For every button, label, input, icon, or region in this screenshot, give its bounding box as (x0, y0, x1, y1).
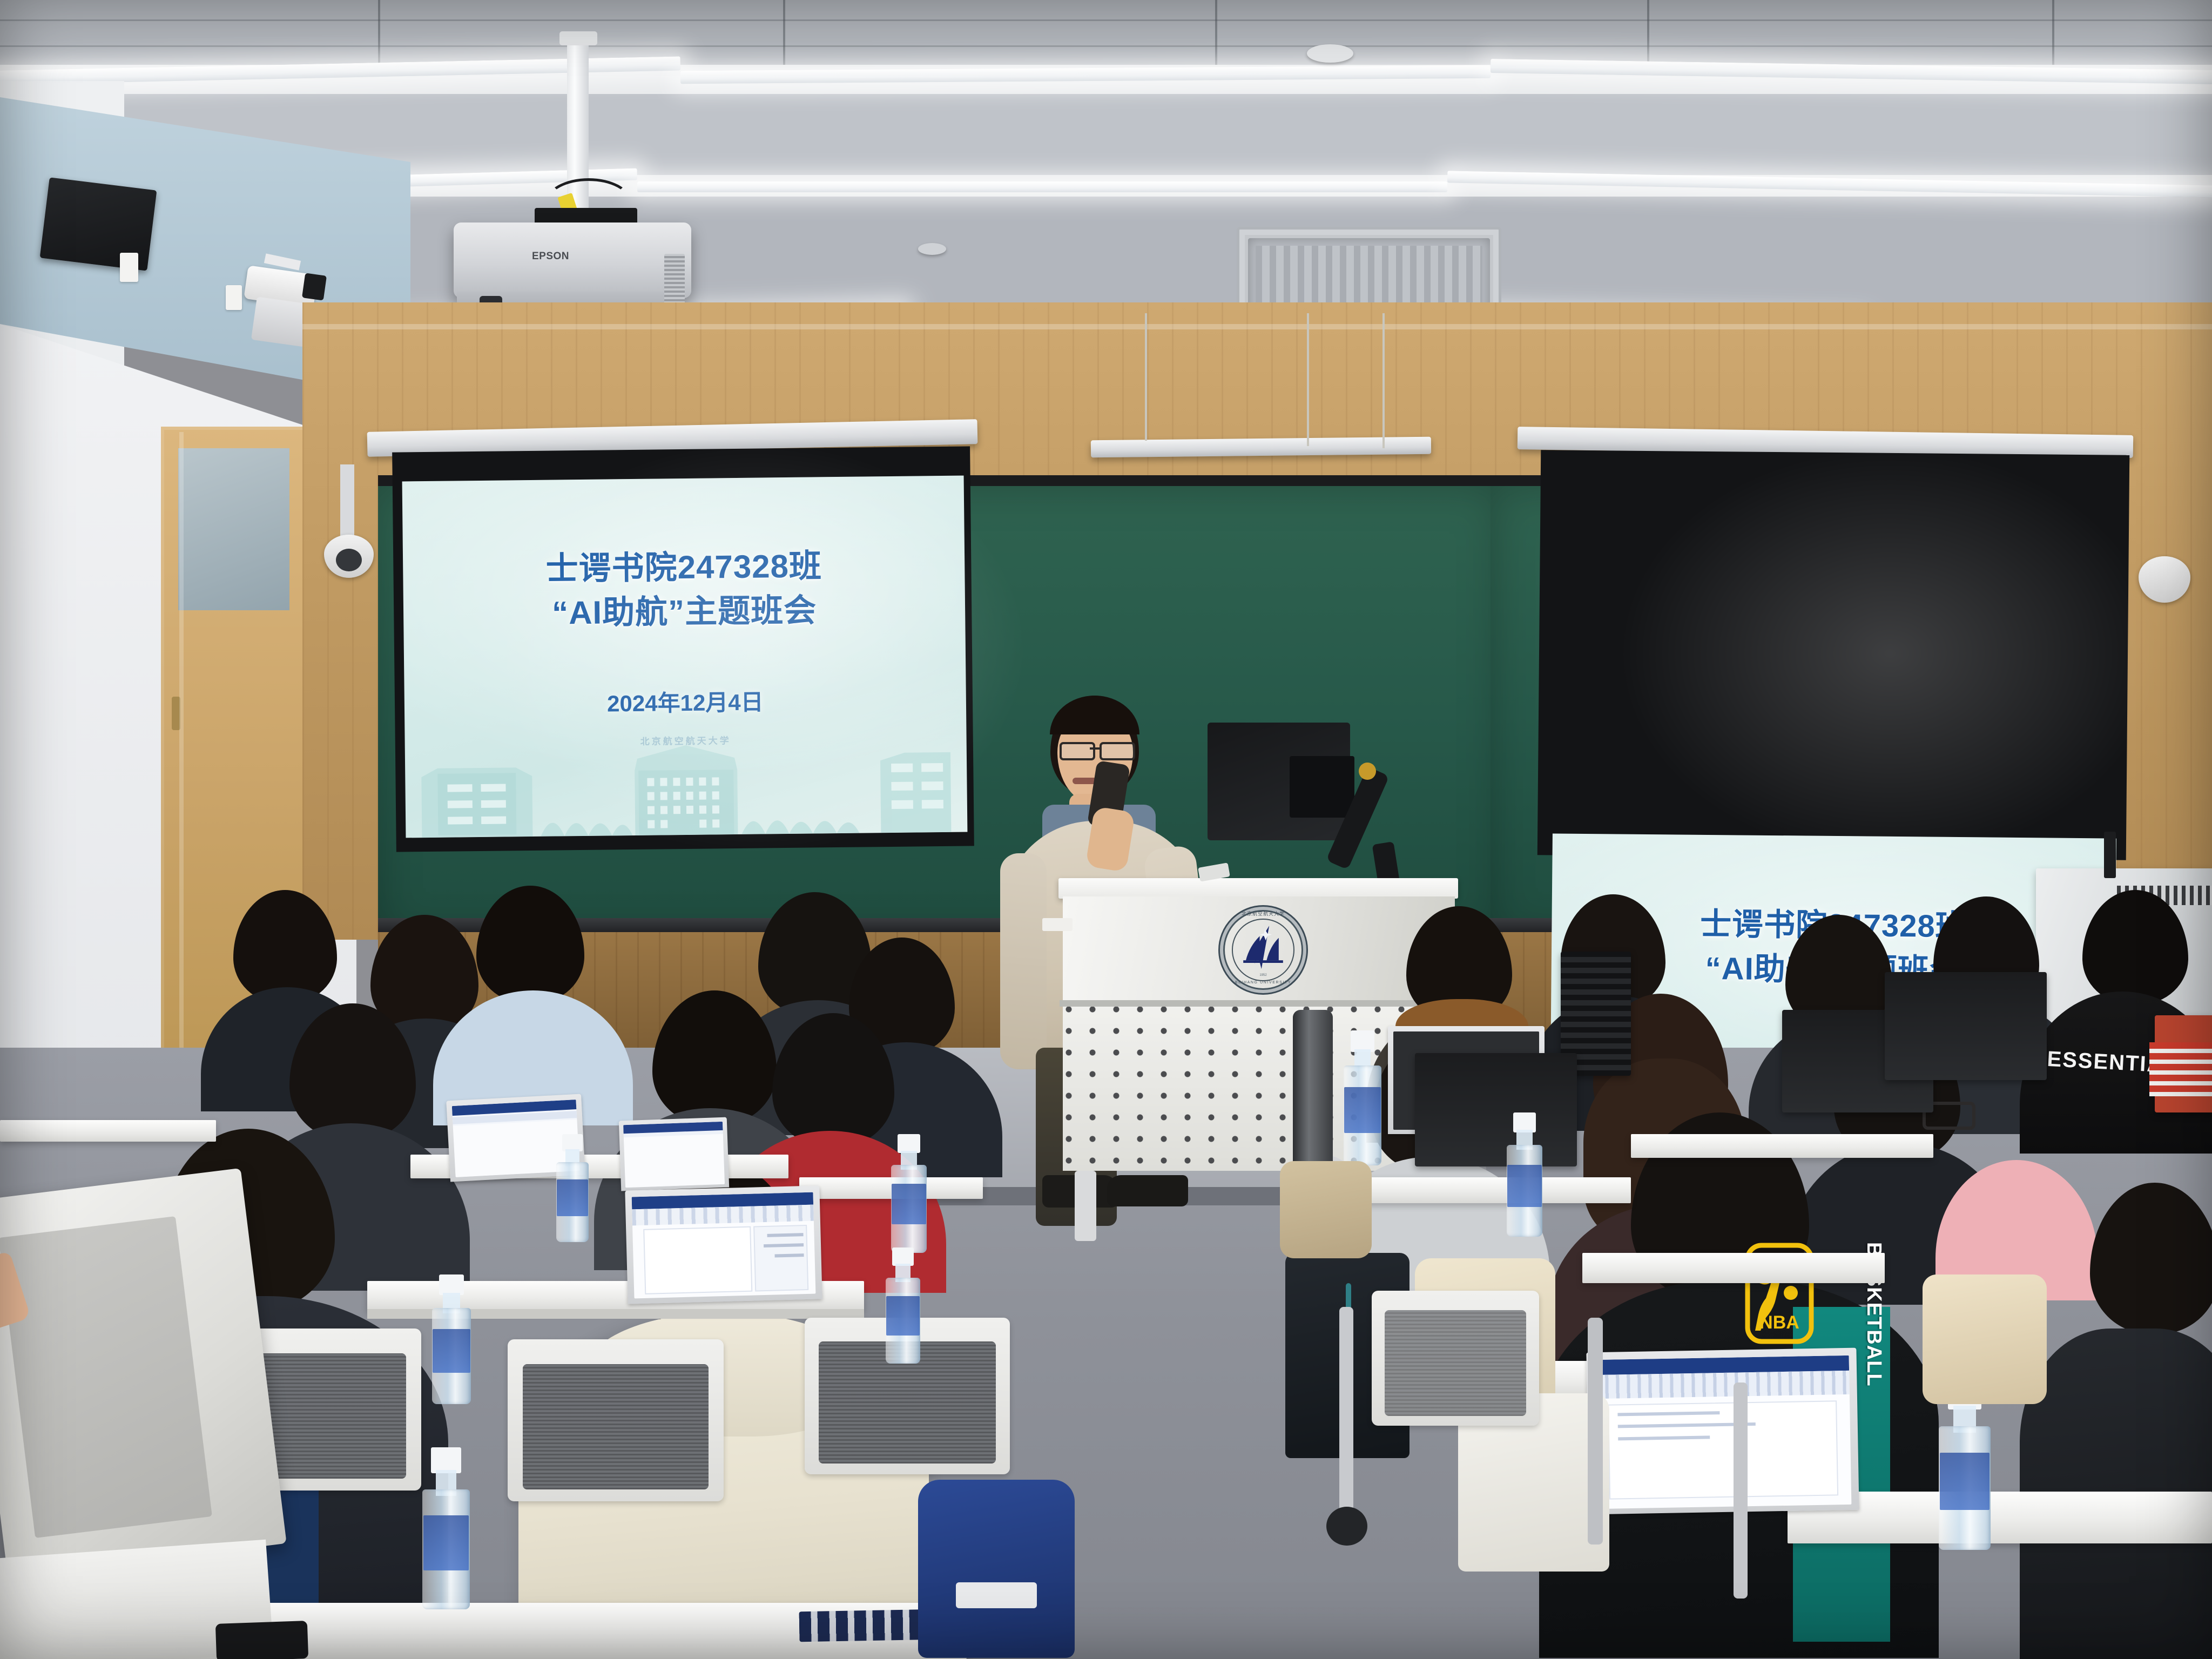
folder-label (2149, 1042, 2212, 1096)
chair-caster (1326, 1507, 1367, 1546)
water-bottle[interactable] (886, 1247, 920, 1364)
slide-title-line1: 士谔书院247328班 (403, 546, 965, 590)
desktop-monitor (1885, 972, 2047, 1080)
desk (0, 1120, 216, 1142)
chair-panel-inner (0, 1216, 212, 1538)
podium-front-panel: 北京航空航天大学 BEIHANG UNIVERSITY 1952 (1063, 896, 1455, 1004)
camera-mount-base (251, 296, 311, 347)
emblem-year: 1952 (1220, 974, 1306, 977)
screen-hanger-wire (1145, 313, 1147, 441)
emblem-sail-mark (1220, 907, 1306, 993)
water-bottle-front-right[interactable] (1939, 1382, 1991, 1550)
projector-screen-housing-center (1091, 437, 1431, 458)
laptop-office[interactable] (625, 1185, 822, 1304)
projector-ceiling-plate (559, 31, 597, 45)
cabinet-cable (2104, 832, 2116, 878)
ceiling-grid-line (378, 0, 380, 65)
presenter-shoe-right (1107, 1175, 1188, 1206)
door-trim (179, 432, 184, 1156)
slide-title-line2: “AI助航”主题班会 (403, 590, 966, 635)
chair[interactable] (508, 1339, 724, 1501)
screen-hanger-wire (1307, 313, 1309, 446)
projector-brand-label: EPSON (532, 251, 569, 262)
smartphone[interactable] (215, 1621, 308, 1659)
screen-border-right (1537, 450, 2130, 860)
laptop-office-right[interactable] (1586, 1348, 1859, 1515)
slide-date: 2024年12月4日 (404, 682, 967, 721)
water-bottle[interactable] (1344, 1030, 1381, 1165)
water-bottle[interactable] (1507, 1112, 1542, 1237)
ceiling-grid-line (0, 19, 2212, 21)
water-bottle[interactable] (891, 1134, 927, 1253)
campus-skyline-illustration (404, 730, 967, 838)
presenter-left-arm (1000, 853, 1047, 1069)
ceiling-light-strip (637, 181, 1447, 192)
light-switch[interactable] (226, 285, 242, 310)
screen-hanger-wire (1382, 313, 1385, 448)
projector-body: EPSON (454, 222, 691, 298)
podium-divider (1060, 1000, 1459, 1007)
backpack-logo-patch (956, 1582, 1037, 1608)
ceiling-grid-line (1215, 0, 1217, 65)
university-emblem: 北京航空航天大学 BEIHANG UNIVERSITY 1952 (1218, 905, 1308, 995)
ceiling-grid-line (0, 45, 2212, 47)
smoke-detector-icon (918, 243, 946, 255)
chair[interactable] (1372, 1291, 1539, 1426)
door-window (178, 448, 289, 610)
desk-leg (1588, 1318, 1603, 1545)
tan-bag (1923, 1274, 2047, 1404)
monitor-arm-knob[interactable] (1359, 763, 1376, 780)
podium-top (1058, 878, 1458, 899)
desk (1631, 1134, 1933, 1158)
desk-leg (1734, 1382, 1748, 1599)
desk (1582, 1253, 1885, 1283)
dome-camera-lens-icon (336, 549, 362, 571)
nba-logo-text: NBA (1759, 1312, 1799, 1333)
chair-post (1339, 1307, 1353, 1512)
podium-notes (1042, 918, 1073, 931)
projection-screen-left: 士谔书院247328班 “AI助航”主题班会 2024年12月4日 北京航空航天… (402, 476, 968, 838)
wall-speaker (40, 177, 157, 271)
presenter-glasses-right-lens (1100, 742, 1135, 760)
ceiling-grid-line (783, 0, 785, 65)
water-bottle[interactable] (556, 1134, 589, 1242)
wood-seam (302, 324, 2212, 329)
ceiling-grid-line (1647, 0, 1649, 65)
monitor-vesa-plate (1290, 756, 1354, 818)
camera-lens-icon (302, 273, 327, 300)
bag-on-desk (1280, 1161, 1372, 1258)
ceiling-speaker-dome (1307, 44, 1353, 63)
podium-leg-left (1075, 1171, 1096, 1241)
laptop[interactable] (619, 1117, 729, 1191)
water-bottle[interactable] (432, 1274, 471, 1404)
ceiling-grid-line (2052, 0, 2054, 65)
presenter-glasses-left-lens (1060, 742, 1095, 760)
desktop-monitor (1415, 1053, 1577, 1166)
dome-camera-stem (340, 464, 354, 540)
water-bottle-front[interactable] (422, 1447, 470, 1609)
presenter-glasses-bridge (1090, 747, 1101, 750)
emblem-top-text: 北京航空航天大学 (1220, 910, 1306, 917)
emblem-bottom-text: BEIHANG UNIVERSITY (1220, 981, 1306, 984)
classroom-photo: EPSON 士谔书院247328班 “AI助航”主题班会 2024年1 (0, 0, 2212, 1659)
thermos-flask[interactable] (1293, 1010, 1333, 1172)
light-switch[interactable] (120, 253, 138, 282)
ceiling-tile-row (0, 0, 2212, 65)
blue-backpack[interactable] (918, 1480, 1075, 1658)
